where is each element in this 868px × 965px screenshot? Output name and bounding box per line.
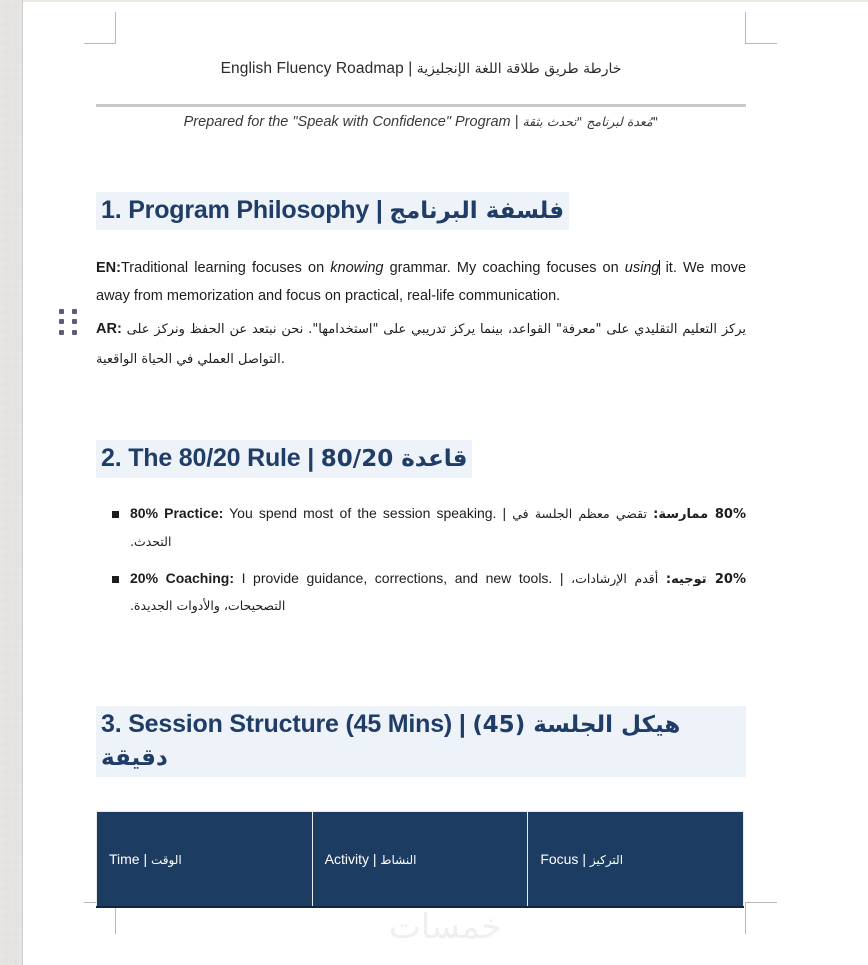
section-1-en-text-2: grammar. My coaching focuses on xyxy=(383,260,624,276)
table-column-activity-ar: النشاط xyxy=(380,853,416,867)
section-1-en-italic-1: knowing xyxy=(330,260,383,276)
table-column-focus-separator: | xyxy=(582,851,586,867)
section-3-number: 3. xyxy=(101,710,121,738)
page-subtitle-separator: | xyxy=(515,114,519,130)
list-item: 80% Practice: You spend most of the sess… xyxy=(96,500,746,555)
list-item: 20% Coaching: I provide guidance, correc… xyxy=(96,565,746,620)
page-title: English Fluency Roadmap | خارطة طريق طلا… xyxy=(96,60,746,78)
document-editor: English Fluency Roadmap | خارطة طريق طلا… xyxy=(0,0,868,965)
section-2-heading: 2. The 80/20 Rule | قاعدة 80/20 xyxy=(96,440,472,478)
table-column-focus-en: Focus xyxy=(540,851,578,867)
section-3-heading-separator: | xyxy=(459,710,466,738)
table-column-time: Time | الوقت xyxy=(97,811,313,907)
bullet-2-separator: | xyxy=(560,570,571,586)
editor-gutter xyxy=(0,0,22,965)
section-1-heading-en: Program Philosophy xyxy=(128,196,369,224)
section-1-heading-separator: | xyxy=(376,196,383,224)
section-3-heading-en: Session Structure (45 Mins) xyxy=(128,710,452,738)
section-1-body-en: EN:Traditional learning focuses on knowi… xyxy=(96,254,746,311)
section-1-en-label: EN: xyxy=(96,260,121,276)
section-1-heading-ar: فلسفة البرنامج xyxy=(389,198,564,224)
page-subtitle-ar: مُعدة لبرنامج "تحدث بثقة" xyxy=(522,114,658,129)
section-2-bullet-list: 80% Practice: You spend most of the sess… xyxy=(96,500,746,619)
table-column-activity-separator: | xyxy=(373,851,377,867)
bullet-1-ar-bold: 80% ممارسة: xyxy=(653,507,746,522)
table-header-row: Time | الوقت Activity | النشاط Focus | xyxy=(97,811,744,907)
page-subtitle-en: Prepared for the "Speak with Confidence"… xyxy=(184,114,511,130)
section-1-ar-text: يركز التعليم التقليدي على "معرفة" القواع… xyxy=(96,322,746,368)
section-1-body-ar: AR: يركز التعليم التقليدي على "معرفة" ال… xyxy=(96,313,746,375)
bullet-2-ar-bold: 20% توجيه: xyxy=(666,572,746,587)
section-1-ar-label: AR: xyxy=(96,321,122,337)
document-page: English Fluency Roadmap | خارطة طريق طلا… xyxy=(23,2,868,965)
section-1-heading-wrapper: 1. Program Philosophy | فلسفة البرنامج xyxy=(96,192,746,230)
bullet-1-en-text: You spend most of the session speaking. xyxy=(223,505,502,521)
watermark: خمسات xyxy=(23,907,868,947)
table-column-activity-en: Activity xyxy=(325,851,369,867)
table-column-time-separator: | xyxy=(143,851,147,867)
section-3-heading: 3. Session Structure (45 Mins) | (هيكل ا… xyxy=(96,706,746,777)
section-2-heading-en: The 80/20 Rule xyxy=(128,444,300,472)
page-title-en: English Fluency Roadmap xyxy=(221,60,404,77)
session-structure-table: Time | الوقت Activity | النشاط Focus | xyxy=(96,811,744,909)
bullet-2-en-bold: 20% Coaching: xyxy=(130,570,234,586)
drag-handle-icon[interactable] xyxy=(58,308,78,336)
section-2-heading-wrapper: 2. The 80/20 Rule | قاعدة 80/20 xyxy=(96,440,746,478)
section-3-heading-wrapper: 3. Session Structure (45 Mins) | (هيكل ا… xyxy=(96,706,746,777)
header-divider xyxy=(96,104,746,107)
page-title-separator: | xyxy=(408,60,412,77)
section-1-en-italic-2: using xyxy=(625,260,660,276)
page-subtitle: Prepared for the "Speak with Confidence"… xyxy=(96,114,746,130)
bullet-1-en-bold: 80% Practice: xyxy=(130,505,223,521)
section-1-en-text-1: Traditional learning focuses on xyxy=(121,260,330,276)
bullet-2-en-text: I provide guidance, corrections, and new… xyxy=(234,570,560,586)
bullet-1-separator: | xyxy=(503,505,513,521)
crop-mark-icon xyxy=(745,12,777,44)
crop-mark-icon xyxy=(84,12,116,44)
document-content: English Fluency Roadmap | خارطة طريق طلا… xyxy=(96,42,746,908)
table-column-activity: Activity | النشاط xyxy=(312,811,528,907)
section-2-heading-ar: قاعدة 80/20 xyxy=(321,446,468,472)
page-title-ar: خارطة طريق طلاقة اللغة الإنجليزية xyxy=(417,61,622,77)
section-1-number: 1. xyxy=(101,196,121,224)
section-2-heading-separator: | xyxy=(307,444,314,472)
table-header: Time | الوقت Activity | النشاط Focus | xyxy=(97,811,744,907)
table-column-focus-ar: التركيز xyxy=(590,853,623,867)
table-column-time-ar: الوقت xyxy=(151,853,182,867)
table-column-time-en: Time xyxy=(109,851,140,867)
section-2-number: 2. xyxy=(101,444,121,472)
section-1-heading: 1. Program Philosophy | فلسفة البرنامج xyxy=(96,192,569,230)
table-column-focus: Focus | التركيز xyxy=(528,811,744,907)
